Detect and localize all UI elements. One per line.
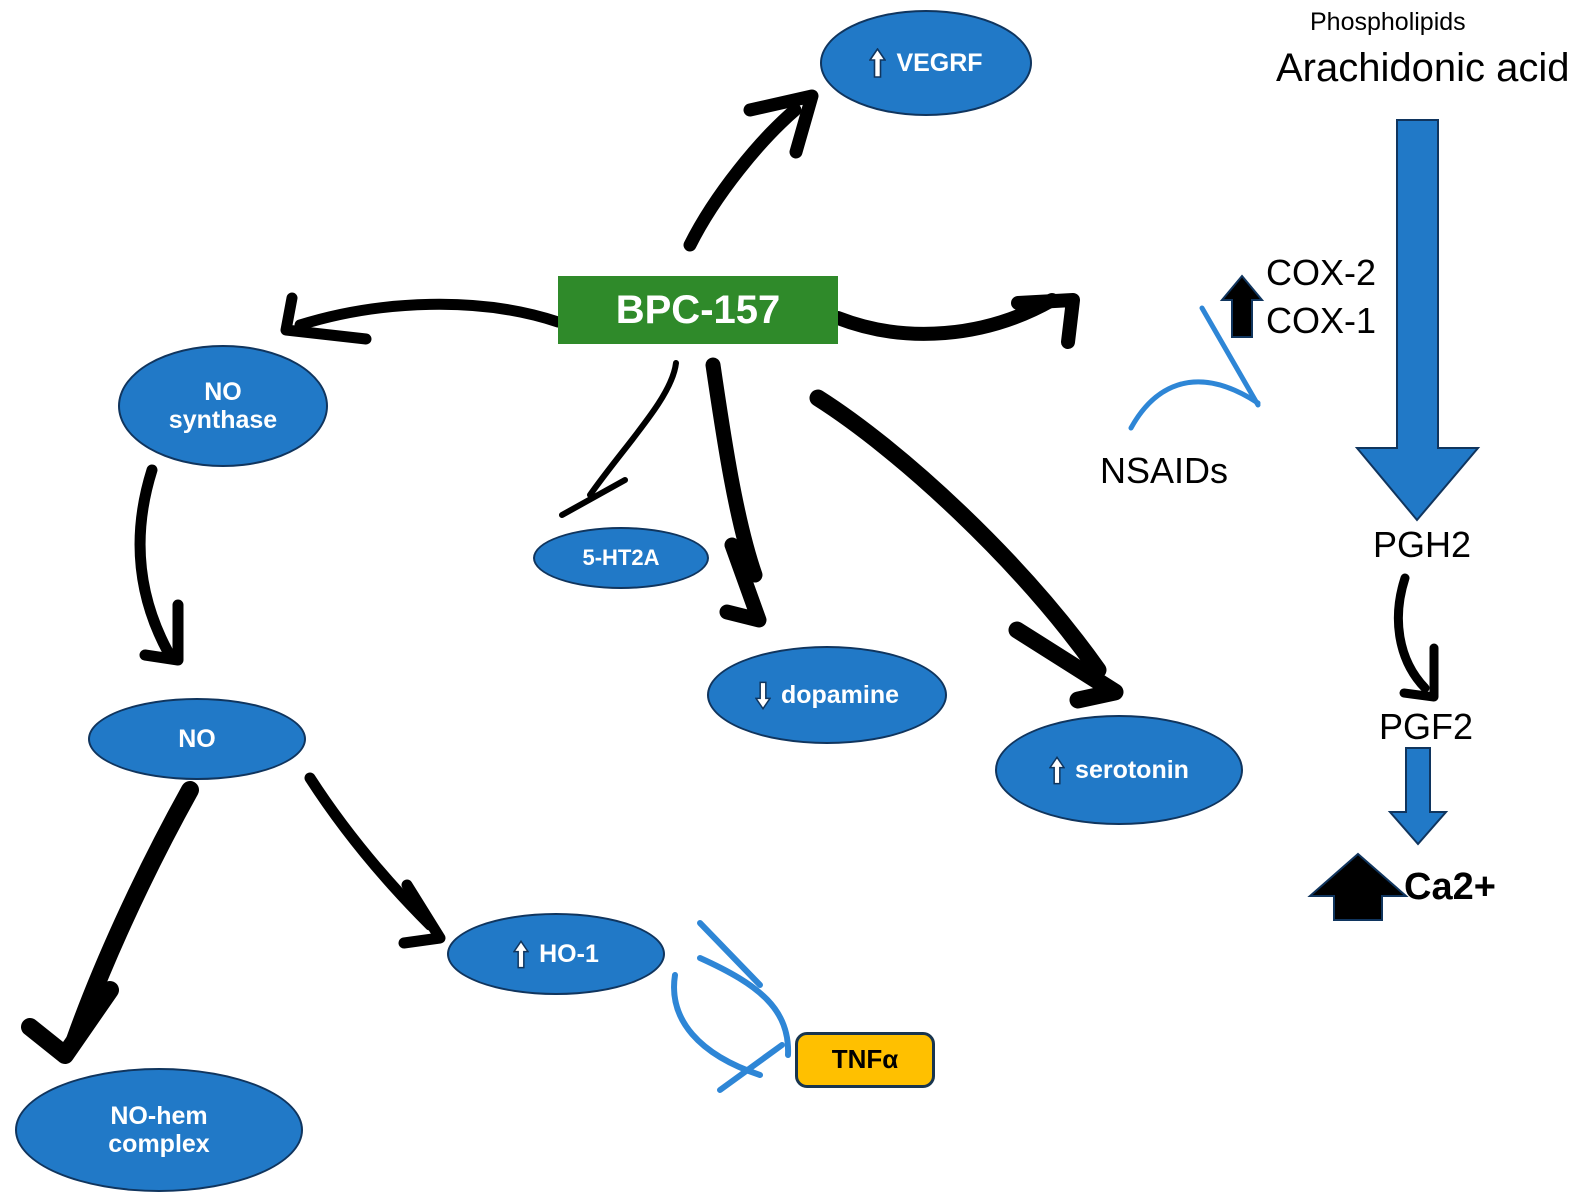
node-dopamine[interactable]: dopamine	[707, 646, 947, 744]
label-ca2plus: Ca2+	[1404, 866, 1496, 909]
node-tnf-alpha[interactable]: TNFα	[795, 1032, 935, 1088]
label-phospholipids: Phospholipids	[1310, 8, 1466, 37]
small-blue-arrow-pgf2-to-ca	[1390, 748, 1446, 844]
ca-increase-up-arrow-icon	[1310, 854, 1406, 920]
label-cox2: COX-2	[1266, 252, 1376, 294]
label-nsaids: NSAIDs	[1100, 450, 1228, 492]
node-no[interactable]: NO	[88, 698, 306, 780]
node-bpc157-label: BPC-157	[616, 288, 781, 333]
arrow-bpc157-to-no-synthase	[286, 298, 558, 339]
arrow-no-synthase-to-no	[140, 470, 178, 660]
arrow-no-to-no-hem	[30, 790, 190, 1055]
node-serotonin-label: serotonin	[1075, 756, 1189, 784]
node-no-synthase-label: NO synthase	[169, 378, 277, 434]
connector-layer	[0, 0, 1576, 1200]
node-bpc157[interactable]: BPC-157	[558, 276, 838, 344]
node-no-hem-complex[interactable]: NO-hem complex	[15, 1068, 303, 1192]
inhibitor-ho1-to-tnfalpha	[674, 923, 788, 1090]
node-ho-1[interactable]: HO-1	[447, 913, 665, 995]
node-ho-1-label: HO-1	[539, 940, 599, 968]
label-arachidonic-acid: Arachidonic acid	[1276, 46, 1570, 91]
down-arrow-icon	[755, 681, 771, 710]
node-5-ht2a[interactable]: 5-HT2A	[533, 527, 709, 589]
up-arrow-icon	[1049, 756, 1065, 785]
node-5-ht2a-label: 5-HT2A	[582, 546, 659, 571]
up-arrow-icon	[513, 940, 529, 969]
node-tnf-alpha-label: TNFα	[832, 1045, 899, 1074]
node-no-label: NO	[178, 725, 216, 753]
node-vegrf-label: VEGRF	[896, 49, 982, 77]
label-cox1: COX-1	[1266, 300, 1376, 342]
node-no-hem-complex-label: NO-hem complex	[108, 1102, 209, 1158]
node-no-synthase[interactable]: NO synthase	[118, 345, 328, 467]
cox-up-arrow-icon	[1222, 276, 1262, 337]
diagram-canvas: BPC-157 VEGRF NO synthase NO NO-hem comp…	[0, 0, 1576, 1200]
inhibitor-bpc157-to-5ht2a	[562, 363, 676, 515]
arrow-bpc157-to-vegrf	[690, 96, 812, 245]
up-arrow-icon	[869, 48, 886, 78]
node-dopamine-label: dopamine	[781, 681, 899, 709]
label-pgf2: PGF2	[1379, 706, 1473, 748]
node-vegrf[interactable]: VEGRF	[820, 10, 1032, 116]
arrow-bpc157-to-cox	[838, 300, 1073, 342]
arrow-bpc157-to-dopamine	[713, 365, 759, 620]
label-pgh2: PGH2	[1373, 524, 1471, 566]
arrow-pgh2-to-pgf2	[1398, 578, 1434, 697]
node-serotonin[interactable]: serotonin	[995, 715, 1243, 825]
arrow-no-to-ho1	[310, 778, 440, 943]
